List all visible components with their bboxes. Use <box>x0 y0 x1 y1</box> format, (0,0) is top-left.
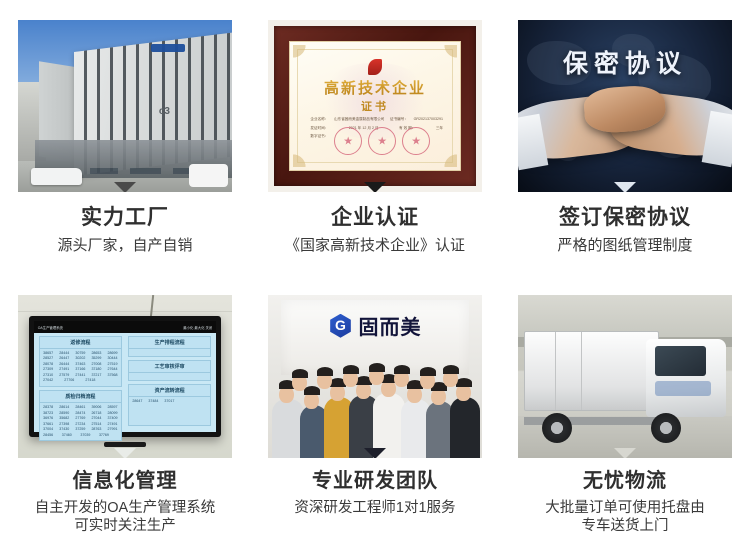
tv-screen: OA生产管理系统 最小化 最大化 关闭 返修流程 386572844430759… <box>34 321 217 432</box>
delivery-truck-photo <box>518 295 732 458</box>
certificate-field-label: 发证时间： <box>310 124 328 133</box>
oa-panel: 返修流程 3865728444307592865328699 285272644… <box>39 336 121 387</box>
oa-panel-header: 工艺审核评审 <box>129 361 209 373</box>
card-title: 专业研发团队 <box>268 470 482 493</box>
certificate-field-value: GR202137003291 <box>414 115 443 124</box>
tv-bezel: OA生产管理系统 最小化 最大化 关闭 返修流程 386572844430759… <box>29 316 222 437</box>
card-subtitle: 《国家高新技术企业》认证 <box>268 237 482 256</box>
feature-card-information-management[interactable]: OA生产管理系统 最小化 最大化 关闭 返修流程 386572844430759… <box>0 275 250 557</box>
oa-panel-header: 资产流转流程 <box>129 385 209 397</box>
tv-cable <box>149 295 153 318</box>
wall-seam <box>18 311 232 312</box>
building-unit-label: c3 <box>159 106 170 117</box>
pointer-arrow-icon <box>114 182 136 192</box>
certificate-field-label: 数字证书： <box>310 132 328 141</box>
feature-card-nda-signing[interactable]: 保密协议 签订保密协议 严格的图纸管理制度 <box>500 0 750 275</box>
brand-name: 固而美 <box>359 311 422 340</box>
truck-window <box>655 346 706 377</box>
oa-panel: 生产排程流程 <box>128 336 210 357</box>
certificate-photo: 高新技术企业 证书 企业名称： 山东省固而美金属制品有限公司 证书编号： GR2… <box>268 20 482 192</box>
feature-card-worry-free-logistics[interactable]: 无忧物流 大批量订单可使用托盘由 专车送货上门 <box>500 275 750 557</box>
card-subtitle: 严格的图纸管理制度 <box>518 237 732 256</box>
oa-system-tv-photo: OA生产管理系统 最小化 最大化 关闭 返修流程 386572844430759… <box>18 295 232 458</box>
factory-building-photo: c3 <box>18 20 232 192</box>
parked-truck <box>189 164 228 186</box>
card-subtitle: 自主开发的OA生产管理系统 可实时关注生产 <box>18 499 232 535</box>
building-logo-sign <box>151 44 185 52</box>
card-title: 无忧物流 <box>518 470 732 493</box>
tv-stand <box>104 442 147 447</box>
certificate-subheading: 证书 <box>290 98 460 114</box>
card-subtitle: 大批量订单可使用托盘由 专车送货上门 <box>518 499 732 535</box>
pointer-arrow-icon <box>614 448 636 458</box>
truck-front-wheel <box>651 413 681 443</box>
feature-card-strength-factory[interactable]: c3 实力工厂 源头厂家，自产自销 <box>0 0 250 275</box>
oa-panel-rows: 2837828614284613900628597 38723285902847… <box>40 403 120 440</box>
oa-window-title: OA生产管理系统 <box>38 325 63 330</box>
truck-decal <box>655 381 711 396</box>
certificate-field-value: 三年 <box>436 124 443 133</box>
oa-panel: 工艺审核评审 <box>128 360 210 381</box>
handshake-nda-photo: 保密协议 <box>518 20 732 192</box>
certificate-field-label: 企业名称： <box>310 115 328 124</box>
certificate-paper: 高新技术企业 证书 企业名称： 山东省固而美金属制品有限公司 证书编号： GR2… <box>289 41 461 171</box>
rd-team-photo: 固而美 <box>268 295 482 458</box>
certificate-seal <box>402 127 430 155</box>
card-subtitle: 资深研发工程师1对1服务 <box>268 499 482 517</box>
pointer-arrow-icon <box>364 182 386 192</box>
feature-card-enterprise-certification[interactable]: 高新技术企业 证书 企业名称： 山东省固而美金属制品有限公司 证书编号： GR2… <box>250 0 500 275</box>
feature-grid: c3 实力工厂 源头厂家，自产自销 <box>0 0 750 557</box>
certificate-field-label: 证书编号： <box>390 115 408 124</box>
card-title: 签订保密协议 <box>518 206 732 230</box>
certificate-seal <box>334 127 362 155</box>
oa-panel: 资产流转流程 286473748437017 <box>128 384 210 426</box>
feature-card-rd-team[interactable]: 固而美 <box>250 275 500 557</box>
hexagon-g-logo-icon <box>329 314 353 338</box>
truck-rear-wheel <box>542 413 572 443</box>
company-logo: 固而美 <box>268 311 482 340</box>
oa-window-controls: 最小化 最大化 关闭 <box>183 325 212 330</box>
pointer-arrow-icon <box>364 448 386 458</box>
card-title: 企业认证 <box>268 206 482 230</box>
oa-window-titlebar: OA生产管理系统 最小化 最大化 关闭 <box>34 321 217 333</box>
truck-cargo-box <box>524 331 659 411</box>
card-title: 信息化管理 <box>18 470 232 493</box>
pointer-arrow-icon <box>114 448 136 458</box>
oa-panel-header: 返修流程 <box>40 337 120 349</box>
oa-panel-rows: 286473748437017 <box>129 397 209 407</box>
pointer-arrow-icon <box>614 182 636 192</box>
oa-panel: 质检归档流程 2837828614284613900628597 3872328… <box>39 390 121 441</box>
certificate-wooden-frame: 高新技术企业 证书 企业名称： 山东省固而美金属制品有限公司 证书编号： GR2… <box>274 26 476 186</box>
certificate-heading: 高新技术企业 <box>290 77 460 98</box>
parked-van <box>31 168 82 185</box>
oa-panel-header: 生产排程流程 <box>129 337 209 349</box>
card-title: 实力工厂 <box>18 206 232 230</box>
certificate-seal <box>368 127 396 155</box>
oa-panel-rows: 3865728444307592865328699 28527264473020… <box>40 349 120 386</box>
team-members <box>268 357 482 458</box>
oa-panel-header: 质检归档流程 <box>40 391 120 403</box>
card-subtitle: 源头厂家，自产自销 <box>18 237 232 256</box>
nda-overlay-text: 保密协议 <box>518 44 732 80</box>
certificate-field-value: 山东省固而美金属制品有限公司 <box>334 115 384 124</box>
